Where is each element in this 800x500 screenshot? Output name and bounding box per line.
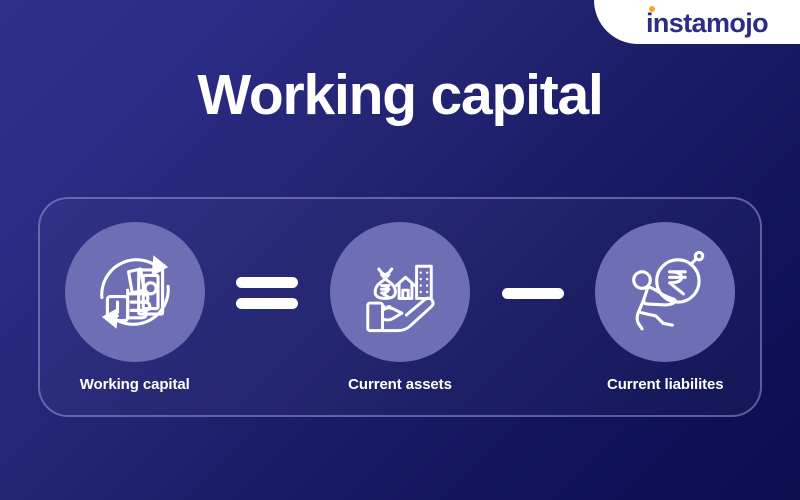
- formula-term-current-liabilities: Current liabilites: [571, 222, 760, 393]
- formula-term-current-assets: Current assets: [305, 222, 494, 393]
- term-label: Current assets: [348, 376, 452, 393]
- formula-row: Working capital: [40, 199, 760, 415]
- hand-holding-assets-icon: [354, 246, 446, 338]
- brand-wordmark: instamojo: [646, 8, 768, 37]
- equals-bar-top: [236, 277, 298, 288]
- minus-bar: [502, 288, 564, 299]
- brand-logo: instamojo: [594, 0, 800, 44]
- logo-dot-icon: [649, 6, 655, 12]
- equals-bar-bottom: [236, 298, 298, 309]
- icon-circle: [330, 222, 470, 362]
- infographic-canvas: instamojo Working capital: [0, 0, 800, 500]
- icon-circle: [595, 222, 735, 362]
- page-title: Working capital: [0, 64, 800, 127]
- cash-cycle-icon: [89, 246, 181, 338]
- person-carrying-debt-icon: [619, 246, 711, 338]
- formula-term-working-capital: Working capital: [40, 222, 229, 393]
- brand-name-text: instamojo: [646, 8, 768, 38]
- term-label: Current liabilites: [607, 376, 724, 393]
- equals-sign: [229, 277, 305, 309]
- term-label: Working capital: [80, 376, 190, 393]
- minus-sign: [495, 288, 571, 299]
- icon-circle: [65, 222, 205, 362]
- formula-container: Working capital: [38, 197, 762, 417]
